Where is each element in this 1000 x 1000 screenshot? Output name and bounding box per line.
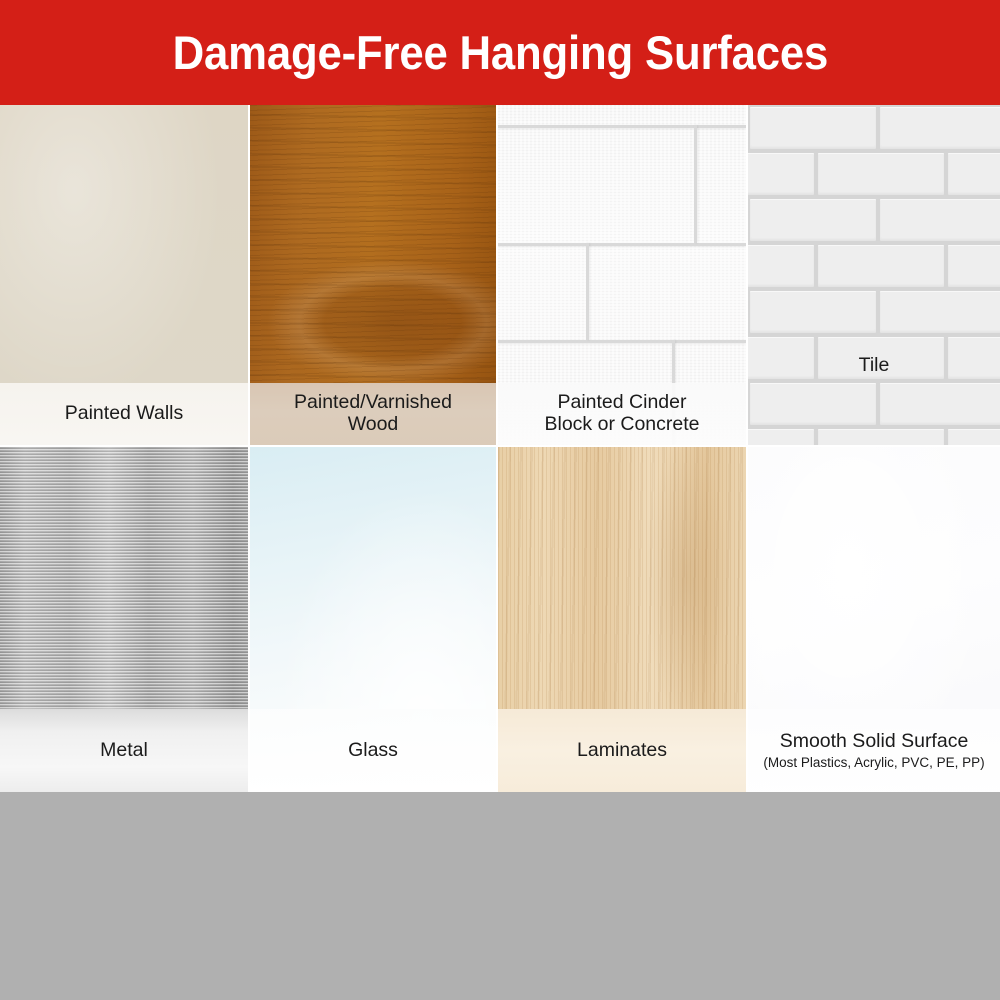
surface-caption: Tile [748,335,1000,397]
surface-card-smooth-solid: Smooth Solid Surface (Most Plastics, Acr… [748,447,1000,792]
surface-card-glass: Glass [250,447,496,792]
surface-caption: Metal [0,709,248,792]
surface-card-painted-walls: Painted Walls [0,105,248,445]
surface-card-metal: Metal [0,447,248,792]
mortar-line [586,243,589,340]
mortar-line [498,243,746,246]
surface-card-painted-wood: Painted/Varnished Wood [250,105,496,445]
grid-divider [496,105,498,792]
infographic-page: Damage-Free Hanging Surfaces Painted Wal… [0,0,1000,1000]
surface-label: Painted Walls [65,403,184,425]
do-not-use-band: Do Not Use On Wallpaper Fabrics Textured… [0,792,1000,1000]
surface-caption: Glass [250,709,496,792]
mortar-line [498,125,746,128]
surface-caption: Laminates [498,709,746,792]
mortar-line [498,340,746,343]
approved-surfaces-grid: Painted Walls Painted/Varnished Wood Pai… [0,105,1000,792]
grid-divider [0,445,1000,447]
surface-label: Painted/Varnished Wood [294,392,452,436]
mortar-line [694,125,697,243]
surface-label: Laminates [577,740,667,762]
surface-card-laminates: Laminates [498,447,746,792]
surface-sublabel: (Most Plastics, Acrylic, PVC, PE, PP) [763,755,984,771]
surface-caption: Painted Cinder Block or Concrete [498,383,746,445]
surface-caption: Painted/Varnished Wood [250,383,496,445]
surface-label: Metal [100,740,148,762]
page-title: Damage-Free Hanging Surfaces [172,25,828,80]
surface-label: Painted Cinder Block or Concrete [545,392,700,436]
grid-divider [248,105,250,792]
surface-caption: Smooth Solid Surface (Most Plastics, Acr… [748,709,1000,792]
surface-label: Tile [859,355,890,377]
surface-label: Smooth Solid Surface [780,731,969,753]
surface-card-cinder-block: Painted Cinder Block or Concrete [498,105,746,445]
header-banner: Damage-Free Hanging Surfaces [0,0,1000,105]
surface-caption: Painted Walls [0,383,248,445]
grid-divider [746,105,748,792]
surface-label: Glass [348,740,398,762]
surface-card-tile: Tile [748,105,1000,445]
